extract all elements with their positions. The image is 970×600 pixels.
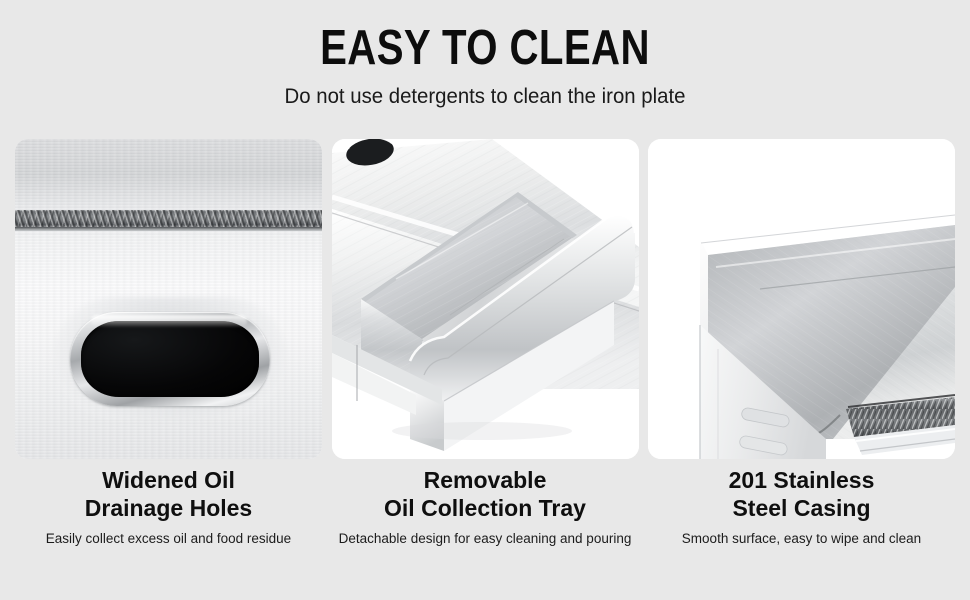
caption-title-line2: Drainage Holes: [85, 495, 252, 521]
drain-hole: [81, 321, 259, 397]
caption-title-line2: Steel Casing: [732, 495, 870, 521]
caption-description: Smooth surface, easy to wipe and clean: [648, 531, 955, 547]
oil-tray-illustration: [332, 139, 639, 459]
caption-title: Widened Oil Drainage Holes: [15, 466, 322, 523]
header: EASY TO CLEAN Do not use detergents to c…: [0, 0, 970, 109]
caption-description: Easily collect excess oil and food resid…: [15, 531, 322, 547]
caption-title-line1: Widened Oil: [102, 467, 235, 493]
caption-description: Detachable design for easy cleaning and …: [332, 531, 639, 547]
welded-edge-band: [15, 210, 322, 227]
caption-title-line1: Removable: [424, 467, 547, 493]
feature-image-steel-casing: [648, 139, 955, 459]
caption-drainage-hole: Widened Oil Drainage Holes Easily collec…: [15, 466, 322, 566]
caption-title-line1: 201 Stainless: [729, 467, 875, 493]
feature-caption-row: Widened Oil Drainage Holes Easily collec…: [0, 466, 970, 566]
steel-casing-illustration: [648, 139, 955, 459]
caption-title: Removable Oil Collection Tray: [332, 466, 639, 523]
feature-image-row: [0, 139, 970, 459]
feature-image-oil-tray: [332, 139, 639, 459]
drain-hole-highlight: [91, 315, 247, 327]
caption-steel-casing: 201 Stainless Steel Casing Smooth surfac…: [648, 466, 955, 566]
page-subtitle: Do not use detergents to clean the iron …: [15, 84, 956, 109]
feature-image-drainage-hole: [15, 139, 322, 459]
caption-title-line2: Oil Collection Tray: [384, 495, 586, 521]
page-title: EASY TO CLEAN: [87, 24, 882, 73]
caption-title: 201 Stainless Steel Casing: [648, 466, 955, 523]
caption-oil-tray: Removable Oil Collection Tray Detachable…: [332, 466, 639, 566]
welded-edge-lip: [15, 227, 322, 231]
